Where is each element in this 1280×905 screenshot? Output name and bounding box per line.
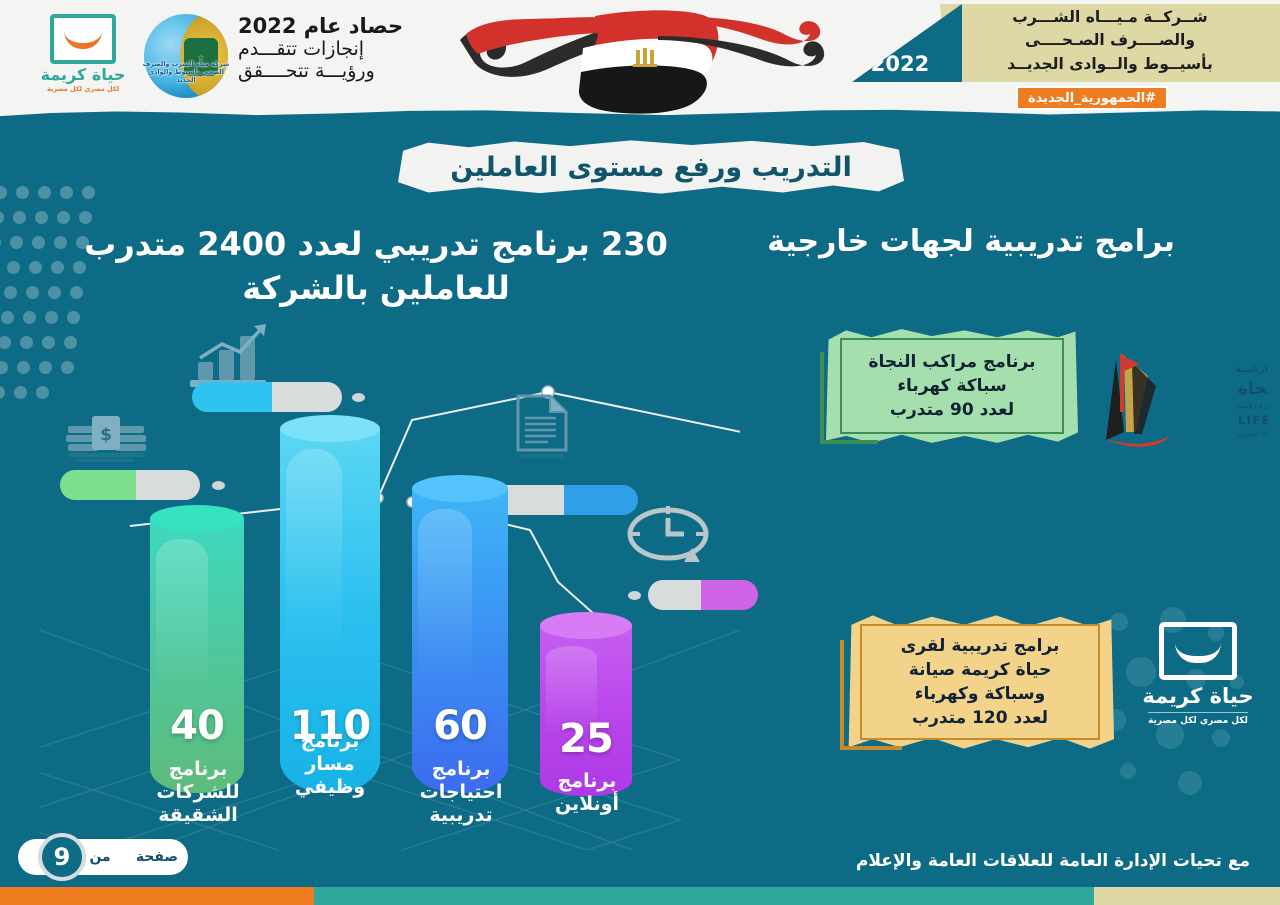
egypt-flag-ribbon-icon bbox=[440, 6, 840, 116]
training-programs-bar-chart: $ bbox=[40, 330, 740, 850]
banner-line-2: والصــــرف الصـحــــى bbox=[962, 29, 1258, 52]
header-slogan: حصاد عام 2022 إنجازات تتقـــدم ورؤيـــة … bbox=[238, 14, 418, 82]
bar-label-1: برنامج للشركات الشقيقة bbox=[146, 758, 250, 828]
card-line-2: حياة كريمة صيانة bbox=[901, 658, 1060, 682]
decorative-dot bbox=[7, 261, 20, 274]
hayah-karima-logo-card: حياة كريمة لكل مصري لكل مصرية bbox=[1132, 622, 1264, 727]
water-company-globe-logo: ☆ شركة مياه الشرب والصرف الصحي بأسيوط وا… bbox=[140, 12, 230, 104]
hayah-karima-frame-icon bbox=[50, 14, 116, 64]
globe-icon: ☆ bbox=[144, 14, 228, 98]
card-line-3: لعدد 90 متدرب bbox=[869, 398, 1036, 422]
svg-text:وزارة الإسكان والمرافق والمجتم: وزارة الإسكان والمرافق والمجتمعات العمرا… bbox=[1236, 431, 1268, 438]
banner-text: شــركــة مـيـــاه الشـــرب والصــــرف ال… bbox=[962, 6, 1258, 76]
decorative-dot bbox=[0, 236, 1, 249]
capsule-dot-1 bbox=[212, 481, 225, 490]
card-connector-green-vertical bbox=[820, 352, 824, 444]
card-line-4: لعدد 120 متدرب bbox=[901, 706, 1060, 730]
card-text: برامج تدريبية لقرى حياة كريمة صيانة وسبا… bbox=[901, 634, 1060, 731]
smile-icon bbox=[64, 31, 102, 49]
bar-label-2: برنامج مسار وظيفي bbox=[284, 730, 376, 800]
footer-credit: مع تحيات الإدارة العامة للعلاقات العامة … bbox=[856, 851, 1250, 871]
decorative-dot bbox=[45, 311, 58, 324]
bar-program-sister-companies: 40 bbox=[150, 505, 244, 793]
card-line-3: وسباكة وكهرباء bbox=[901, 682, 1060, 706]
bar-top-ellipse bbox=[150, 505, 244, 532]
card-connector-green-horizontal bbox=[820, 440, 878, 444]
card-line-2: سباكة كهرباء bbox=[869, 374, 1036, 398]
decorative-dot bbox=[82, 186, 95, 199]
card-life-saving-boats: برنامج مراكب النجاة سباكة كهرباء لعدد 90… bbox=[826, 328, 1078, 444]
hayah-karima-name: حياة كريمة bbox=[36, 67, 130, 83]
decorative-dot bbox=[51, 261, 64, 274]
svg-text:مبادرة رئاسية: مبادرة رئاسية bbox=[1236, 401, 1268, 410]
life-saving-boats-logo: المبادرة الرئاسية مراكب النجاة مبادرة رئ… bbox=[1096, 346, 1268, 462]
svg-text:LIFE SAVING BOATS: LIFE SAVING BOATS bbox=[1238, 413, 1268, 427]
decorative-dot bbox=[10, 236, 23, 249]
bar-program-training-needs: 60 bbox=[412, 475, 508, 793]
hayah-karima-name: حياة كريمة bbox=[1132, 686, 1264, 707]
decorative-dot bbox=[14, 386, 27, 399]
decorative-dot bbox=[1212, 729, 1230, 747]
slogan-line-2: إنجازات تتقـــدم bbox=[238, 38, 418, 60]
water-company-logo-text: شركة مياه الشرب والصرف الصحي بأسيوط والو… bbox=[142, 60, 230, 84]
svg-text:المبادرة الرئاسية: المبادرة الرئاسية bbox=[1236, 365, 1268, 375]
footer-bar-orange bbox=[0, 887, 314, 905]
bar-value: 60 bbox=[412, 703, 508, 749]
capsule-marker-4 bbox=[648, 580, 758, 610]
banner-line-3: بأسيــوط والــوادى الجديــد bbox=[962, 53, 1258, 76]
document-icon bbox=[510, 392, 574, 470]
bar-program-online: 25 bbox=[540, 612, 632, 796]
decorative-dot bbox=[32, 236, 45, 249]
page-header: حياة كريمة لكل مصري لكل مصرية ☆ شركة ميا… bbox=[0, 0, 1280, 122]
decorative-dot bbox=[16, 186, 29, 199]
decorative-dot bbox=[23, 311, 36, 324]
bar-body bbox=[150, 518, 244, 793]
decorative-dot bbox=[17, 361, 30, 374]
infographic-page: حياة كريمة لكل مصري لكل مصرية ☆ شركة ميا… bbox=[0, 0, 1280, 905]
decorative-dot bbox=[1178, 771, 1202, 795]
decorative-dot bbox=[35, 211, 48, 224]
decorative-dot bbox=[4, 286, 17, 299]
card-line-1: برامج تدريبية لقرى bbox=[901, 634, 1060, 658]
smile-icon bbox=[1175, 643, 1221, 663]
page-badge: صفحة من 11 9 bbox=[18, 839, 188, 875]
footer-bar-teal bbox=[314, 887, 1095, 905]
current-page-number: 9 bbox=[38, 833, 86, 881]
banner-line-1: شــركــة مـيـــاه الشـــرب bbox=[962, 6, 1258, 29]
decorative-dot bbox=[20, 336, 33, 349]
bar-value: 25 bbox=[540, 716, 632, 762]
refresh-cycle-icon bbox=[622, 500, 714, 574]
bar-value: 40 bbox=[150, 703, 244, 749]
card-connector-orange-horizontal bbox=[840, 746, 902, 750]
hayah-karima-logo-header: حياة كريمة لكل مصري لكل مصرية bbox=[36, 14, 130, 93]
left-section-heading: 230 برنامج تدريبي لعدد 2400 متدرب للعامل… bbox=[66, 222, 686, 310]
decorative-dot bbox=[0, 186, 7, 199]
capsule-marker-1 bbox=[60, 470, 200, 500]
capsule-marker-2 bbox=[192, 382, 342, 412]
card-connector-orange-vertical bbox=[840, 640, 844, 750]
slogan-line-3: ورؤيـــة تتحــــقق bbox=[238, 60, 418, 82]
bar-label-4: برنامج أونلاين bbox=[542, 770, 632, 816]
card-border: برنامج مراكب النجاة سباكة كهرباء لعدد 90… bbox=[840, 338, 1064, 434]
bar-top-ellipse bbox=[540, 612, 632, 639]
decorative-dot bbox=[67, 311, 80, 324]
decorative-dot bbox=[48, 286, 61, 299]
right-section-heading: برامج تدريبية لجهات خارجية bbox=[736, 224, 1206, 259]
capsule-dot-4 bbox=[628, 591, 641, 600]
card-hayah-karima-villages: برامج تدريبية لقرى حياة كريمة صيانة وسبا… bbox=[846, 614, 1114, 750]
hayah-karima-tagline: لكل مصري لكل مصرية bbox=[36, 85, 130, 93]
page-word: صفحة bbox=[136, 849, 178, 865]
decorative-dot bbox=[38, 186, 51, 199]
card-line-1: برنامج مراكب النجاة bbox=[869, 350, 1036, 374]
decorative-dot bbox=[0, 336, 11, 349]
svg-text:$: $ bbox=[100, 425, 112, 445]
bar-top-ellipse bbox=[280, 415, 380, 442]
decorative-dot bbox=[26, 286, 39, 299]
svg-text:مراكب النجاة: مراكب النجاة bbox=[1238, 379, 1268, 399]
decorative-dot bbox=[0, 361, 8, 374]
footer-bar-khaki bbox=[1094, 887, 1280, 905]
decorative-dot bbox=[13, 211, 26, 224]
company-banner: 2022 شــركــة مـيـــاه الشـــرب والصــــ… bbox=[860, 0, 1280, 122]
card-border: برامج تدريبية لقرى حياة كريمة صيانة وسبا… bbox=[860, 624, 1100, 740]
hashtag-badge: #الجمهورية_الجديدة bbox=[1016, 86, 1168, 110]
page-of-word: من bbox=[89, 849, 110, 865]
capsule-marker-3 bbox=[490, 485, 638, 515]
hayah-karima-tagline: لكل مصري لكل مصرية bbox=[1148, 712, 1248, 726]
decorative-dot bbox=[1120, 763, 1136, 779]
decorative-dot bbox=[0, 386, 5, 399]
decorative-dot bbox=[60, 186, 73, 199]
decorative-dot bbox=[1, 311, 14, 324]
card-text: برنامج مراكب النجاة سباكة كهرباء لعدد 90… bbox=[869, 350, 1036, 422]
bar-top-ellipse bbox=[412, 475, 508, 502]
hayah-karima-frame-icon bbox=[1159, 622, 1237, 680]
bar-label-3: برنامج احتياجات تدريبية bbox=[412, 758, 510, 828]
footer-color-bar bbox=[0, 887, 1280, 905]
decorative-dot bbox=[0, 211, 4, 224]
capsule-dot-2 bbox=[352, 393, 365, 402]
slogan-line-1: حصاد عام 2022 bbox=[238, 14, 418, 38]
money-stack-icon: $ bbox=[62, 408, 150, 472]
banner-year: 2022 bbox=[871, 52, 929, 76]
page-title: التدريب ورفع مستوى العاملين bbox=[398, 138, 904, 196]
decorative-dot bbox=[29, 261, 42, 274]
